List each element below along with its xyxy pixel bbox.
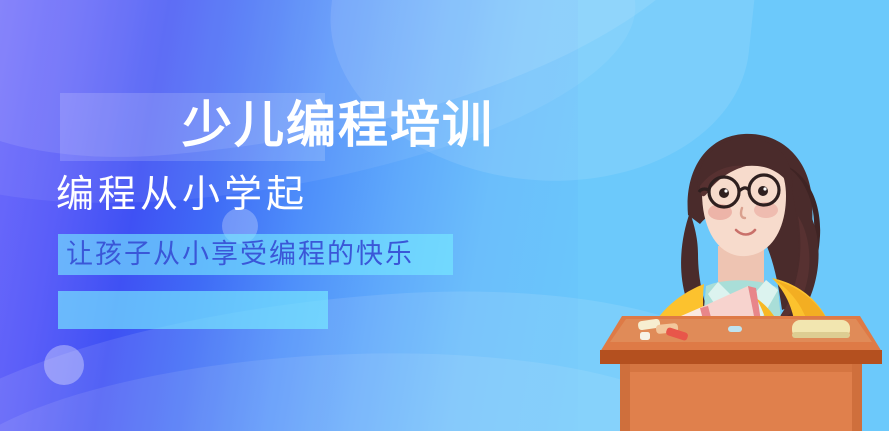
desk-front-shade-icon bbox=[620, 364, 862, 372]
eye-right-icon bbox=[758, 186, 768, 196]
desk-leg-left-icon bbox=[620, 364, 630, 431]
tagline-text: 让孩子从小享受编程的快乐 bbox=[66, 238, 414, 271]
desk-front-icon bbox=[620, 364, 862, 431]
eye-left-glint-icon bbox=[724, 189, 727, 192]
eye-left-icon bbox=[719, 188, 729, 198]
desk-item-eraser-band-icon bbox=[792, 332, 850, 338]
desk-item-white-chip-icon bbox=[640, 332, 650, 340]
page-title: 少儿编程培训 bbox=[182, 92, 582, 158]
subtitle: 编程从小学起 bbox=[56, 170, 308, 220]
promo-banner: 少儿编程培训 编程从小学起 让孩子从小享受编程的快乐 bbox=[0, 0, 889, 431]
desk-edge-icon bbox=[600, 350, 882, 364]
desk-item-pen-icon bbox=[728, 326, 742, 332]
eye-right-glint-icon bbox=[763, 187, 766, 190]
woman-reading-illustration bbox=[596, 120, 886, 431]
desk-leg-right-icon bbox=[852, 364, 862, 431]
accent-bar bbox=[58, 291, 328, 329]
